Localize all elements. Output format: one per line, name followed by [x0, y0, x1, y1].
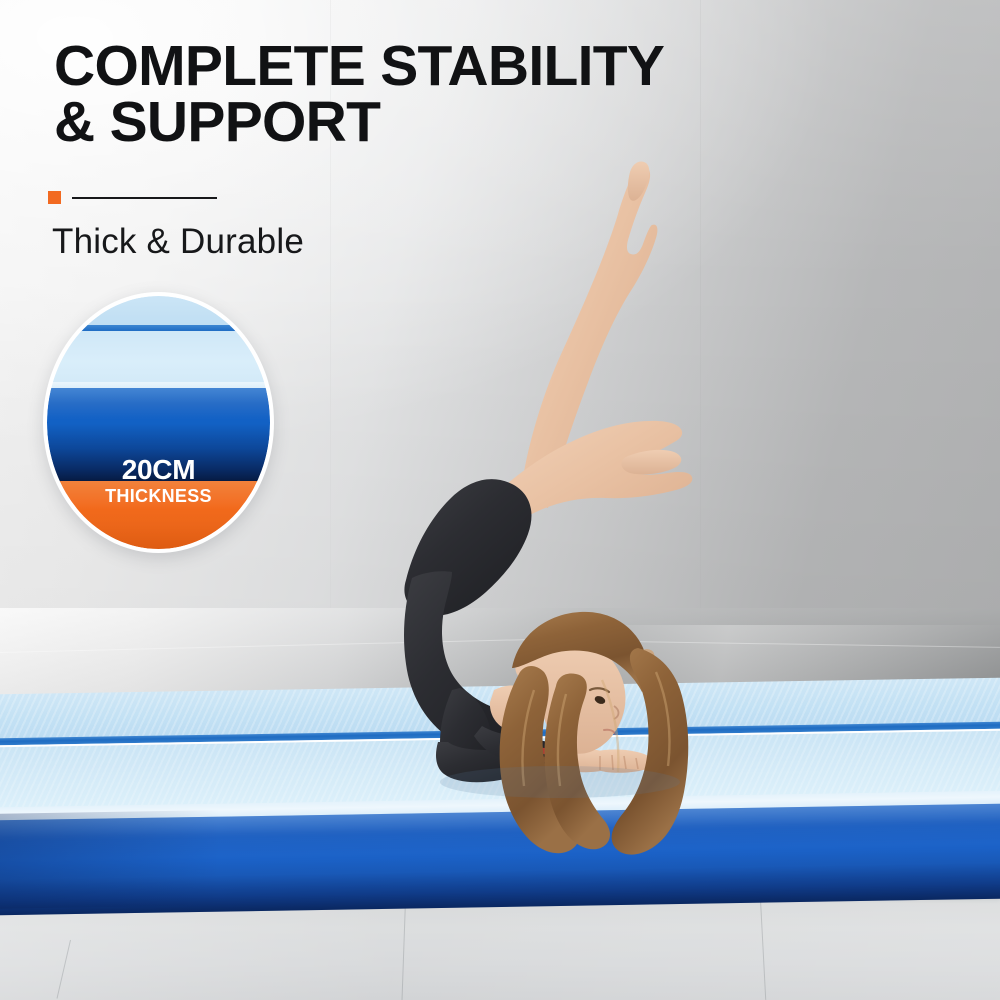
divider-square-icon [48, 191, 61, 204]
thickness-badge: 20CM THICKNESS [43, 292, 274, 553]
page-title: COMPLETE STABILITY & SUPPORT [54, 38, 664, 151]
badge-cross-section: 20CM THICKNESS [47, 296, 270, 549]
badge-text-group: 20CM THICKNESS [47, 455, 270, 505]
divider-line [72, 197, 217, 199]
badge-layer-light [47, 331, 270, 382]
badge-value: 20CM [47, 455, 270, 485]
badge-label: THICKNESS [47, 486, 270, 506]
subtitle: Thick & Durable [52, 222, 304, 262]
product-marketing-image: COMPLETE STABILITY & SUPPORT Thick & Dur… [0, 0, 1000, 1000]
contact-shadow [440, 766, 680, 798]
raised-foot [628, 161, 649, 200]
badge-layer-top [47, 296, 270, 326]
divider [48, 190, 288, 206]
